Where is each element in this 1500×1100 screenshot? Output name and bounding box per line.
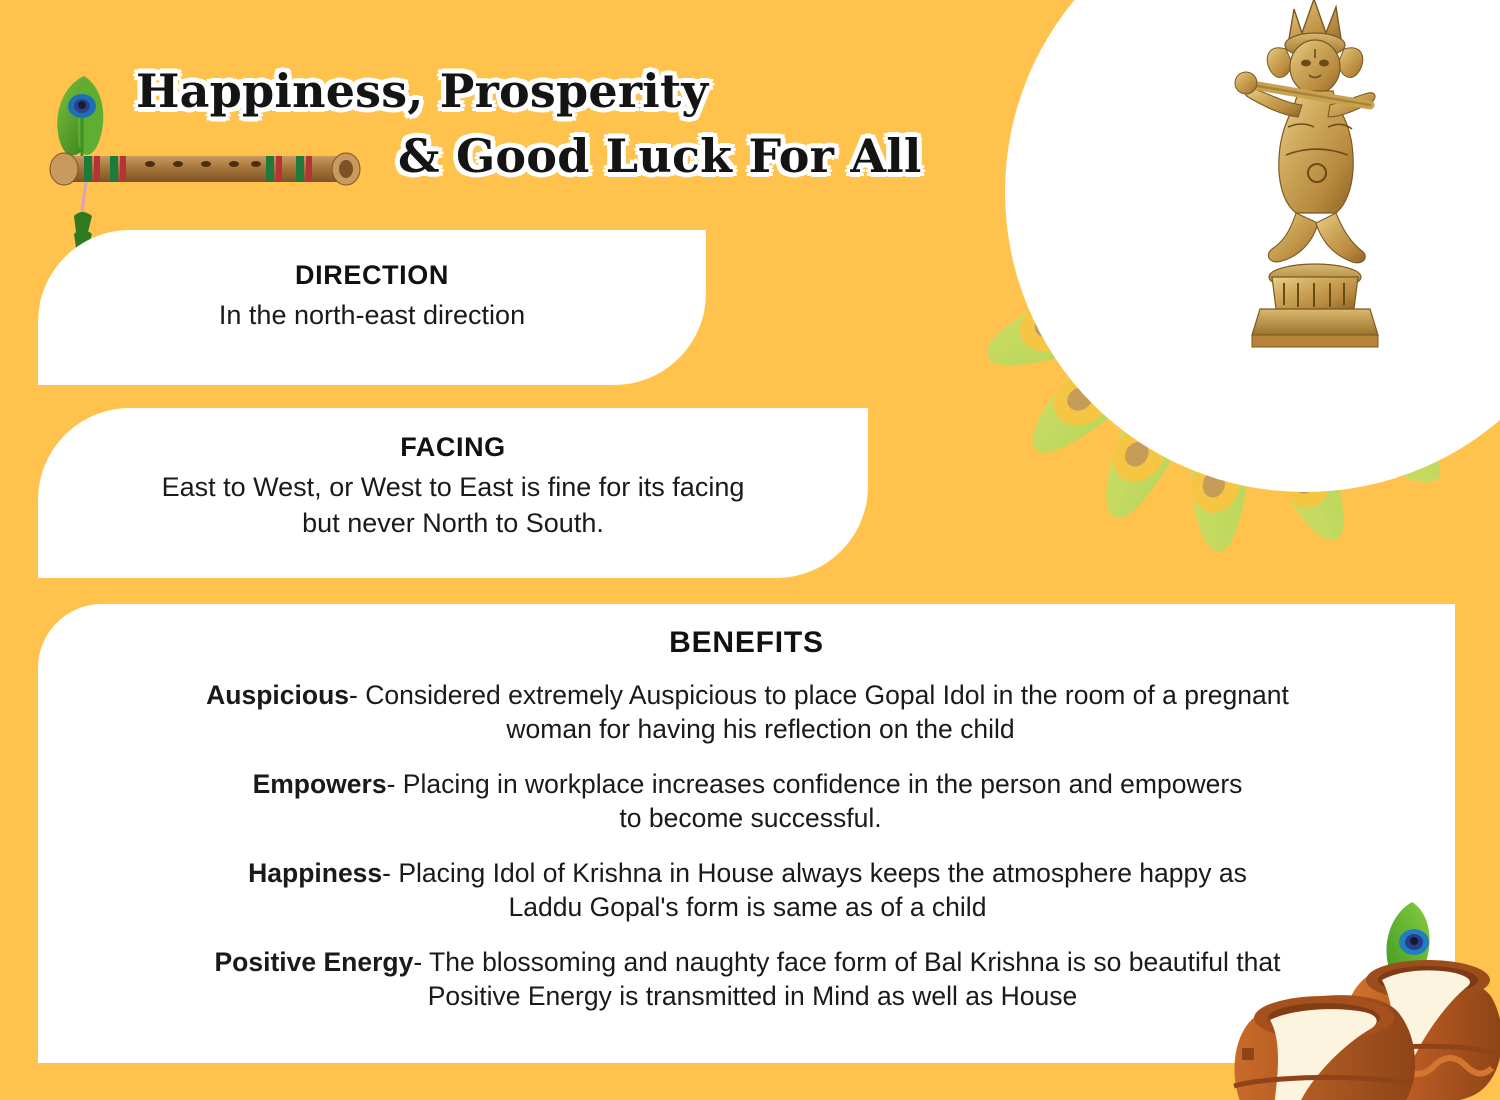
page-title: Happiness, Prosperity & Good Luck For Al… bbox=[118, 62, 938, 186]
benefit-dash: - bbox=[413, 947, 422, 977]
direction-heading: DIRECTION bbox=[38, 260, 706, 291]
benefits-heading: BENEFITS bbox=[38, 626, 1455, 660]
poster-canvas: Happiness, Prosperity & Good Luck For Al… bbox=[0, 0, 1500, 1100]
benefit-line-1: Positive Energy- The blossoming and naug… bbox=[215, 947, 1281, 977]
benefit-dash: - bbox=[349, 680, 358, 710]
benefit-text-2: to become successful. bbox=[66, 801, 1429, 835]
facing-card: FACING East to West, or West to East is … bbox=[38, 408, 868, 578]
krishna-brass-idol-image bbox=[1210, 0, 1420, 377]
benefit-line-1: Happiness- Placing Idol of Krishna in Ho… bbox=[248, 858, 1247, 888]
benefit-item: Positive Energy- The blossoming and naug… bbox=[66, 945, 1429, 1014]
facing-heading: FACING bbox=[38, 432, 868, 463]
benefit-text-2: woman for having his reflection on the c… bbox=[66, 712, 1429, 746]
benefit-label: Positive Energy bbox=[215, 947, 414, 977]
benefit-dash: - bbox=[387, 769, 396, 799]
benefit-text-1: Placing in workplace increases confidenc… bbox=[403, 769, 1243, 799]
benefit-item: Empowers- Placing in workplace increases… bbox=[66, 767, 1429, 836]
benefit-item: Auspicious- Considered extremely Auspici… bbox=[66, 678, 1429, 747]
direction-text: In the north-east direction bbox=[38, 297, 706, 333]
facing-line-1: East to West, or West to East is fine fo… bbox=[162, 472, 745, 502]
benefit-line-1: Auspicious- Considered extremely Auspici… bbox=[66, 678, 1429, 712]
benefit-text-2: Positive Energy is transmitted in Mind a… bbox=[66, 979, 1429, 1013]
benefit-label: Empowers bbox=[253, 769, 387, 799]
benefit-text-1: The blossoming and naughty face form of … bbox=[429, 947, 1280, 977]
benefit-label: Happiness bbox=[248, 858, 382, 888]
peacock-feather-icon bbox=[57, 76, 103, 160]
benefit-label: Auspicious bbox=[206, 680, 349, 710]
benefit-item: Happiness- Placing Idol of Krishna in Ho… bbox=[66, 856, 1429, 925]
benefit-dash: - bbox=[382, 858, 391, 888]
benefits-list: Auspicious- Considered extremely Auspici… bbox=[38, 678, 1455, 1014]
direction-card: DIRECTION In the north-east direction bbox=[38, 230, 706, 385]
benefits-card: BENEFITS Auspicious- Considered extremel… bbox=[38, 604, 1455, 1063]
title-line-1: Happiness, Prosperity bbox=[118, 62, 938, 121]
benefit-text-2: Laddu Gopal's form is same as of a child bbox=[66, 890, 1429, 924]
facing-line-2: but never North to South. bbox=[302, 508, 604, 538]
title-line-2: & Good Luck For All bbox=[118, 127, 938, 186]
facing-text: East to West, or West to East is fine fo… bbox=[38, 469, 868, 541]
krishna-idol-circle bbox=[1005, 0, 1500, 492]
benefit-text-1: Considered extremely Auspicious to place… bbox=[365, 680, 1289, 710]
benefit-text-1: Placing Idol of Krishna in House always … bbox=[398, 858, 1247, 888]
benefit-line-1: Empowers- Placing in workplace increases… bbox=[253, 769, 1243, 799]
